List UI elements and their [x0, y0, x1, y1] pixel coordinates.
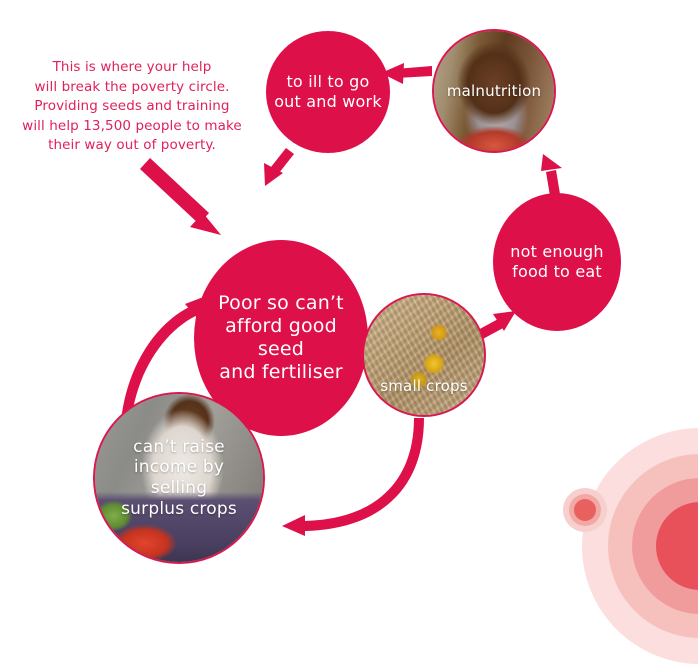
annotation-line-3: Providing seeds and training [18, 97, 246, 117]
node-no-income-line-1: can’t raise [133, 437, 225, 457]
connector-not-enough-food-to-malnutrition [541, 154, 562, 196]
node-poor-seed-label: Poor so can’t afford good seed and ferti… [194, 292, 368, 385]
node-poor-seed-line-2: afford good seed [225, 315, 337, 360]
node-small-crops-label: small crops [364, 377, 484, 395]
node-small-crops[interactable]: small crops [362, 293, 486, 417]
node-not-enough-food[interactable]: not enough food to eat [493, 193, 621, 331]
annotation-line-1: This is where your help [18, 58, 246, 78]
node-malnutrition-label: malnutrition [439, 82, 549, 100]
connector-annotation-to-poor-seed [140, 158, 221, 235]
annotation-line-5: their way out of poverty. [18, 136, 246, 156]
node-too-ill[interactable]: to ill to go out and work [266, 31, 390, 153]
node-no-income-line-2: income by selling [134, 457, 224, 498]
node-not-enough-food-label: not enough food to eat [502, 242, 612, 281]
connector-small-crops-to-no-income [282, 418, 424, 536]
annotation-line-2: will break the poverty circle. [18, 78, 246, 98]
dry-crops-photo [362, 293, 486, 417]
connector-too-ill-to-poor-seed [264, 148, 294, 186]
node-not-enough-food-line-2: food to eat [512, 262, 602, 281]
node-too-ill-line-1: to ill to go [286, 72, 369, 91]
node-no-income-line-3: surplus crops [121, 499, 237, 519]
annotation-line-4: will help 13,500 people to make [18, 117, 246, 137]
help-annotation: This is where your help will break the p… [18, 58, 246, 156]
node-too-ill-line-2: out and work [274, 92, 382, 111]
node-no-income-label: can’t raise income by selling surplus cr… [95, 437, 263, 520]
node-too-ill-label: to ill to go out and work [266, 72, 390, 111]
node-no-income[interactable]: can’t raise income by selling surplus cr… [93, 392, 265, 564]
node-not-enough-food-line-1: not enough [510, 242, 604, 261]
node-poor-seed-line-1: Poor so can’t [218, 292, 344, 314]
node-malnutrition[interactable]: malnutrition [432, 29, 556, 153]
node-poor-seed-line-3: and fertiliser [219, 361, 342, 383]
poverty-circle-diagram: This is where your help will break the p… [0, 0, 698, 584]
